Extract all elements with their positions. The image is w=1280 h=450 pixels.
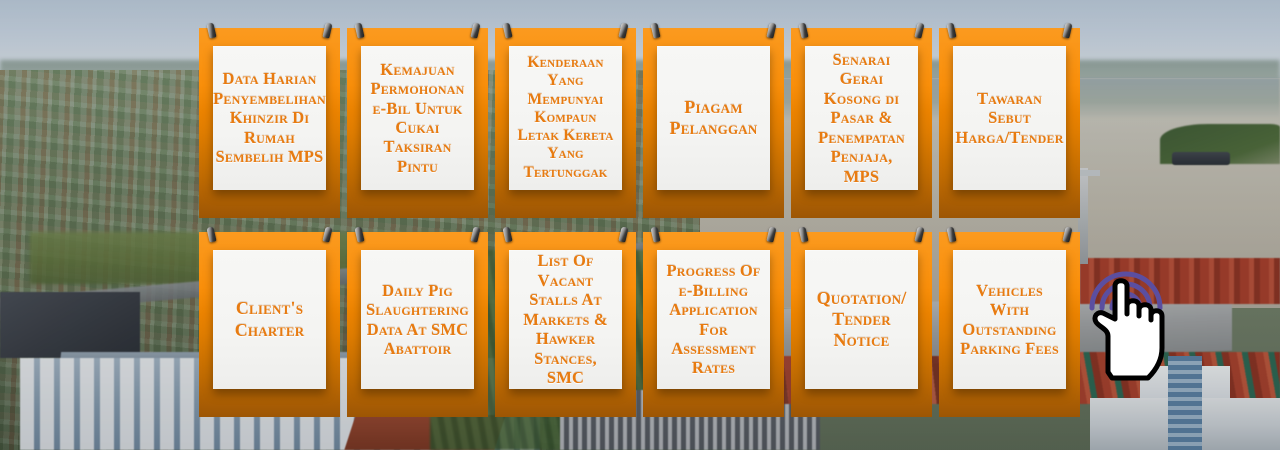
quick-link-card-9[interactable]: List Of Vacant Stalls At Markets & Hawke…: [495, 232, 636, 417]
paper-clip-icon-left: [650, 226, 660, 242]
paper-clip-icon-left: [502, 226, 512, 242]
quick-link-card-8[interactable]: Daily Pig Slaughtering Data At SMC Abatt…: [347, 232, 488, 417]
card-paper: Kemajuan Permohonan e-Bil Untuk Cukai Ta…: [361, 46, 474, 190]
card-paper: Quotation/ Tender Notice: [805, 250, 918, 389]
card-title: Kenderaan Yang Mempunyai Kompaun Letak K…: [509, 54, 622, 182]
paper-clip-icon-right: [618, 226, 628, 242]
screenshot-stage: Data Harian Penyembelihan Khinzir Di Rum…: [0, 0, 1280, 450]
paper-clip-icon-left: [798, 226, 808, 242]
quick-link-card-11[interactable]: Quotation/ Tender Notice: [791, 232, 932, 417]
card-title: Senarai Gerai Kosong di Pasar & Penempat…: [805, 50, 918, 186]
card-paper: Tawaran Sebut Harga/Tender: [953, 46, 1066, 190]
paper-clip-icon-right: [322, 226, 332, 242]
quick-link-card-10[interactable]: Progress Of e-Billing Application For As…: [643, 232, 784, 417]
card-paper: Client's Charter: [213, 250, 326, 389]
paper-clip-icon-left: [946, 226, 956, 242]
card-paper: Data Harian Penyembelihan Khinzir Di Rum…: [213, 46, 326, 190]
quick-link-card-12[interactable]: Vehicles With Outstanding Parking Fees: [939, 232, 1080, 417]
quick-link-card-1[interactable]: Data Harian Penyembelihan Khinzir Di Rum…: [199, 28, 340, 218]
card-title: Vehicles With Outstanding Parking Fees: [953, 281, 1066, 359]
card-title: Daily Pig Slaughtering Data At SMC Abatt…: [360, 281, 475, 359]
dark-roof-building: [0, 292, 140, 358]
quick-link-card-3[interactable]: Kenderaan Yang Mempunyai Kompaun Letak K…: [495, 28, 636, 218]
paper-clip-icon-right: [914, 226, 924, 242]
card-paper: Kenderaan Yang Mempunyai Kompaun Letak K…: [509, 46, 622, 190]
card-paper: Progress Of e-Billing Application For As…: [657, 250, 770, 389]
barge-boat: [1172, 152, 1230, 165]
card-title: Quotation/ Tender Notice: [805, 288, 918, 352]
quick-link-card-2[interactable]: Kemajuan Permohonan e-Bil Untuk Cukai Ta…: [347, 28, 488, 218]
quick-link-card-6[interactable]: Tawaran Sebut Harga/Tender: [939, 28, 1080, 218]
paper-clip-icon-right: [470, 226, 480, 242]
paper-clip-icon-right: [766, 226, 776, 242]
quick-link-card-5[interactable]: Senarai Gerai Kosong di Pasar & Penempat…: [791, 28, 932, 218]
quick-link-card-grid: Data Harian Penyembelihan Khinzir Di Rum…: [199, 28, 1081, 418]
card-paper: Daily Pig Slaughtering Data At SMC Abatt…: [361, 250, 474, 389]
card-title: Kemajuan Permohonan e-Bil Untuk Cukai Ta…: [361, 60, 474, 177]
quick-link-card-4[interactable]: Piagam Pelanggan: [643, 28, 784, 218]
card-title: Progress Of e-Billing Application For As…: [657, 261, 770, 378]
paper-clip-icon-left: [206, 226, 216, 242]
card-title: List Of Vacant Stalls At Markets & Hawke…: [509, 251, 622, 387]
paper-clip-icon-right: [1062, 226, 1072, 242]
quick-link-card-7[interactable]: Client's Charter: [199, 232, 340, 417]
card-title: Client's Charter: [213, 298, 326, 340]
card-title: Piagam Pelanggan: [657, 97, 770, 139]
card-title: Tawaran Sebut Harga/Tender: [949, 89, 1069, 147]
blue-glass-tower: [1168, 356, 1202, 450]
card-paper: Piagam Pelanggan: [657, 46, 770, 190]
paper-clip-icon-left: [354, 226, 364, 242]
card-paper: Vehicles With Outstanding Parking Fees: [953, 250, 1066, 389]
container-stack-upper: [1080, 258, 1280, 304]
card-paper: List Of Vacant Stalls At Markets & Hawke…: [509, 250, 622, 389]
card-paper: Senarai Gerai Kosong di Pasar & Penempat…: [805, 46, 918, 190]
card-title: Data Harian Penyembelihan Khinzir Di Rum…: [207, 69, 332, 166]
